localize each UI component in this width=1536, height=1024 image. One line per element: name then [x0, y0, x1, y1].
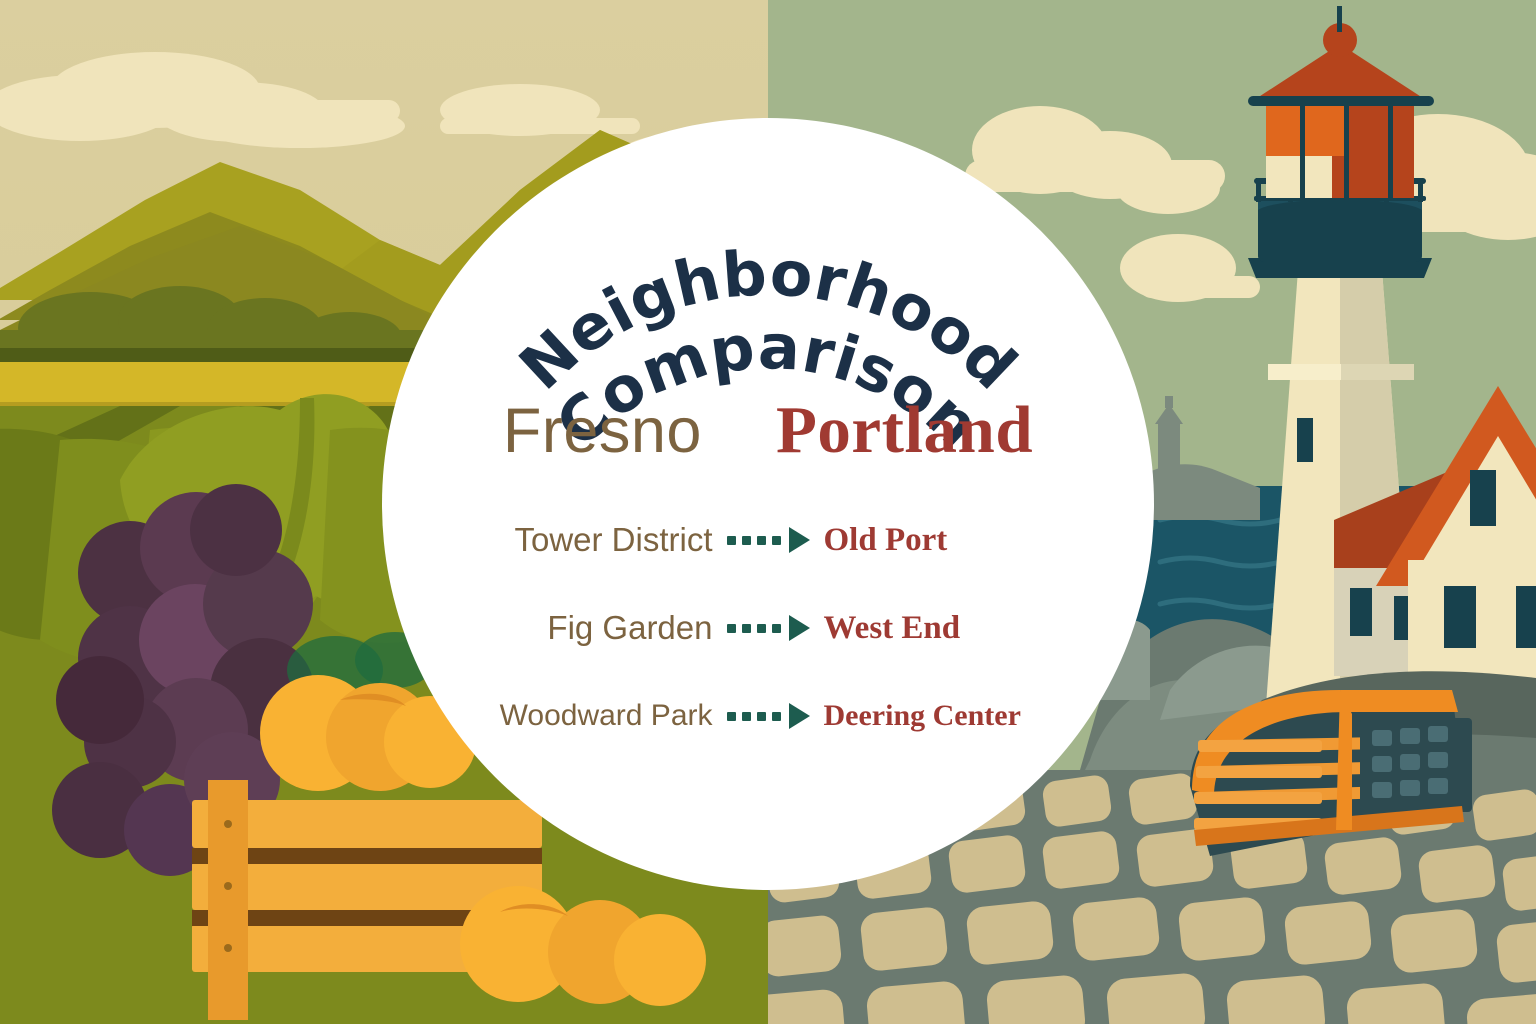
peach	[614, 914, 706, 1006]
pair-from-label: Woodward Park	[451, 699, 713, 733]
house-window	[1516, 586, 1536, 648]
pair-row: Woodward Park Deering Center	[382, 672, 1154, 760]
city-right-name: Portland	[776, 392, 1033, 469]
city-left-name: Fresno	[503, 395, 702, 467]
house-window	[1470, 470, 1496, 526]
lightning-rod	[1337, 6, 1342, 32]
house-window	[1444, 586, 1476, 648]
dotted-arrow-right-icon	[727, 615, 810, 641]
pair-row: Fig Garden West End	[382, 584, 1154, 672]
pair-row: Tower District Old Port	[382, 496, 1154, 584]
dotted-arrow-right-icon	[727, 527, 810, 553]
neighborhood-pair-list: Tower District Old Port Fig Garden West …	[382, 496, 1154, 760]
poster-canvas: Neighborhood Comparison Fresno Portland …	[0, 0, 1536, 1024]
pair-from-label: Fig Garden	[451, 609, 713, 647]
city-headers: Fresno Portland	[382, 392, 1154, 469]
comparison-panel: Fresno Portland Tower District Old Port …	[382, 118, 1154, 890]
gallery-wall	[1258, 200, 1422, 262]
distant-lighthouse	[1158, 420, 1180, 482]
pair-to-label: Old Port	[824, 522, 1086, 559]
house-window	[1350, 588, 1372, 636]
dotted-arrow-right-icon	[727, 703, 810, 729]
tower-window	[1297, 418, 1313, 462]
pair-to-label: Deering Center	[824, 699, 1086, 733]
pair-from-label: Tower District	[451, 521, 713, 559]
tower-band-shade	[1341, 364, 1414, 380]
pair-to-label: West End	[824, 610, 1086, 647]
